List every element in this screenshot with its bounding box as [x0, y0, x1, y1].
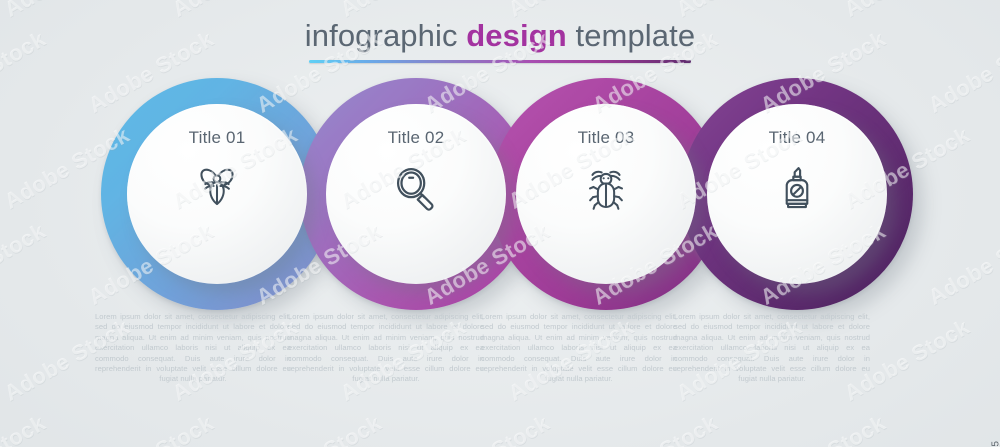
- description-text-2: Lorem ipsum dolor sit amet, consectetur …: [288, 312, 484, 385]
- description-columns: Lorem ipsum dolor sit amet, consectetur …: [0, 312, 1000, 412]
- watermark-tile: Adobe Stock: [84, 410, 218, 447]
- page-title: infographic design template: [0, 18, 1000, 54]
- watermark-tile: Adobe Stock: [924, 410, 1000, 447]
- title-underline-rule: [309, 60, 691, 63]
- magnifying-glass-icon: [385, 156, 447, 218]
- watermark-tile: Adobe Stock: [252, 410, 386, 447]
- beetle-bug-icon: [575, 156, 637, 218]
- step-node-4[interactable]: Title 04: [681, 78, 913, 310]
- page-title-prefix: infographic: [305, 18, 466, 53]
- step-disc-4[interactable]: Title 04: [707, 104, 887, 284]
- watermark-right-edge: #655898875: [991, 441, 1000, 447]
- header: infographic design template: [0, 18, 1000, 63]
- step-title-2: Title 02: [388, 128, 445, 148]
- description-column-4: Lorem ipsum dolor sit amet, consectetur …: [674, 312, 870, 385]
- infographic-canvas: infographic design template Title 01: [0, 0, 1000, 447]
- page-title-highlight: design: [466, 18, 567, 53]
- description-text-4: Lorem ipsum dolor sit amet, consectetur …: [674, 312, 870, 385]
- step-title-3: Title 03: [578, 128, 635, 148]
- step-disc-2[interactable]: Title 02: [326, 104, 506, 284]
- step-disc-1[interactable]: Title 01: [127, 104, 307, 284]
- watermark-tile: Adobe Stock: [756, 410, 890, 447]
- description-column-3: Lorem ipsum dolor sit amet, consectetur …: [481, 312, 677, 385]
- insect-repellent-spray-icon: [766, 156, 828, 218]
- step-disc-3[interactable]: Title 03: [516, 104, 696, 284]
- step-node-1[interactable]: Title 01: [101, 78, 333, 310]
- description-text-1: Lorem ipsum dolor sit amet, consectetur …: [95, 312, 291, 385]
- step-title-4: Title 04: [769, 128, 826, 148]
- step-title-1: Title 01: [189, 128, 246, 148]
- watermark-tile: Adobe Stock: [420, 410, 554, 447]
- description-column-2: Lorem ipsum dolor sit amet, consectetur …: [288, 312, 484, 385]
- watermark-tile: Adobe Stock: [0, 410, 50, 447]
- page-title-suffix: template: [567, 18, 695, 53]
- watermark-tile: Adobe Stock: [588, 410, 722, 447]
- step-chain: Title 01: [0, 78, 1000, 310]
- moth-insect-icon: [186, 156, 248, 218]
- description-text-3: Lorem ipsum dolor sit amet, consectetur …: [481, 312, 677, 385]
- description-column-1: Lorem ipsum dolor sit amet, consectetur …: [95, 312, 291, 385]
